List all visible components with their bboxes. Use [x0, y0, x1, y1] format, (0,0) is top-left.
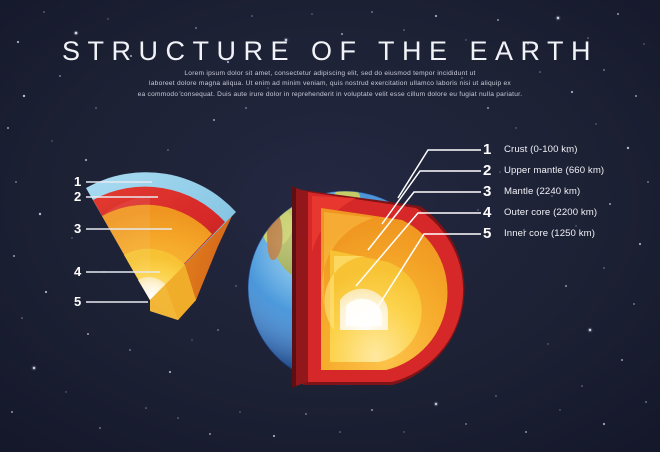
wedge-label-5: 5 — [74, 294, 81, 309]
legend-label-4: Outer core (2200 km) — [504, 207, 597, 218]
legend-label-2: Upper mantle (660 km) — [504, 165, 604, 176]
legend: 1 Crust (0-100 km) 2 Upper mantle (660 k… — [483, 139, 660, 244]
wedge-label-2: 2 — [74, 189, 81, 204]
legend-number-2: 2 — [483, 163, 497, 178]
legend-number-1: 1 — [483, 142, 497, 157]
wedge-label-1: 1 — [74, 174, 81, 189]
cutaway-cut-face-dark — [292, 186, 296, 388]
legend-label-3: Mantle (2240 km) — [504, 186, 580, 197]
wedge-shade-left — [102, 196, 150, 300]
legend-number-5: 5 — [483, 226, 497, 241]
wedge-label-3: 3 — [74, 221, 81, 236]
legend-number-4: 4 — [483, 205, 497, 220]
globe-cutaway — [292, 186, 464, 388]
wedge-label-4: 4 — [74, 264, 81, 279]
infographic-canvas: STRUCTURE OF THE EARTH Lorem ipsum dolor… — [0, 0, 660, 452]
wedge-diagram — [86, 172, 236, 320]
legend-label-5: Inner core (1250 km) — [504, 228, 595, 239]
legend-item-inner-core: 5 Inner core (1250 km) — [483, 223, 660, 244]
legend-number-3: 3 — [483, 184, 497, 199]
globe-leader-1 — [398, 150, 481, 198]
legend-label-1: Crust (0-100 km) — [504, 144, 578, 155]
legend-item-outer-core: 4 Outer core (2200 km) — [483, 202, 660, 223]
cutaway-cut-face — [296, 188, 308, 386]
legend-item-crust: 1 Crust (0-100 km) — [483, 139, 660, 160]
legend-item-upper-mantle: 2 Upper mantle (660 km) — [483, 160, 660, 181]
legend-item-mantle: 3 Mantle (2240 km) — [483, 181, 660, 202]
